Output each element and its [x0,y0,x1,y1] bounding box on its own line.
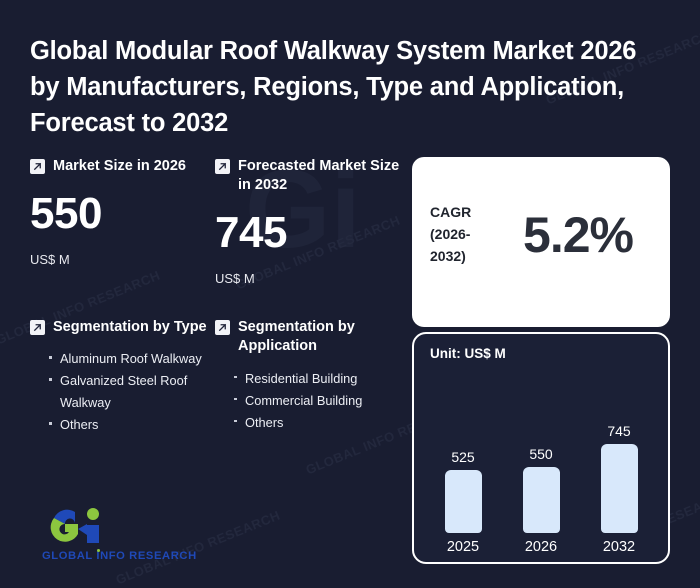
logo: GLOBAL INFO RESEARCH [42,505,197,562]
page-title: Global Modular Roof Walkway System Marke… [30,33,670,142]
bar-category-label: 2032 [603,540,635,555]
cagr-card: CAGR (2026-2032) 5.2% [412,157,670,327]
segments-row: Segmentation by Type Aluminum Roof Walkw… [30,318,400,436]
logo-text-before: GLOBAL [42,550,96,562]
stat-unit: US$ M [30,252,215,267]
bar [445,470,482,533]
bar-column: 525 2025 [432,372,494,554]
bar-chart-card: Unit: US$ M 525 2025 550 2026 745 2032 [412,332,670,564]
segment-header: Segmentation by Application [215,318,400,356]
logo-text-i: I [96,550,100,562]
segment-label: Segmentation by Type [53,318,207,337]
stat-market-size-2026: Market Size in 2026 550 US$ M [30,157,215,286]
chart-unit-label: Unit: US$ M [430,346,506,361]
stat-value: 745 [215,211,400,255]
segment-label: Segmentation by Application [238,318,400,356]
stat-unit: US$ M [215,271,400,286]
arrow-up-right-icon [215,159,230,174]
stat-label: Forecasted Market Size in 2032 [238,157,400,195]
bar [601,444,638,533]
stat-value: 550 [30,192,215,236]
bar-value-label: 550 [529,447,552,461]
segmentation-by-application: Segmentation by Application Residential … [215,318,400,436]
arrow-up-right-icon [30,159,45,174]
cagr-value: 5.2% [504,210,652,260]
gi-logo-icon [42,505,108,547]
list-item: Commercial Building [234,390,400,412]
bar-value-label: 745 [607,424,630,438]
logo-text-after: NFO RESEARCH [100,550,197,562]
segment-application-list: Residential Building Commercial Building… [215,368,400,434]
bar-column: 745 2032 [588,372,650,554]
left-column: Market Size in 2026 550 US$ M Forecasted… [30,157,400,436]
cagr-content: CAGR (2026-2032) 5.2% [412,157,670,327]
stat-label: Market Size in 2026 [53,157,186,176]
stat-header: Market Size in 2026 [30,157,215,176]
list-item: Aluminum Roof Walkway [49,348,215,370]
bar-category-label: 2025 [447,540,479,555]
list-item: Galvanized Steel Roof Walkway [49,370,215,414]
arrow-up-right-icon [30,320,45,335]
list-item: Others [234,412,400,434]
list-item: Others [49,414,215,436]
list-item: Residential Building [234,368,400,390]
logo-text: GLOBAL INFO RESEARCH [42,550,197,562]
bar [523,467,560,533]
segmentation-by-type: Segmentation by Type Aluminum Roof Walkw… [30,318,215,436]
stats-row: Market Size in 2026 550 US$ M Forecasted… [30,157,400,286]
cagr-label: CAGR (2026-2032) [430,202,504,267]
stat-header: Forecasted Market Size in 2032 [215,157,400,195]
stat-forecast-market-size-2032: Forecasted Market Size in 2032 745 US$ M [215,157,400,286]
bar-column: 550 2026 [510,372,572,554]
bar-value-label: 525 [451,450,474,464]
bar-category-label: 2026 [525,540,557,555]
arrow-up-right-icon [215,320,230,335]
chart-plot-area: 525 2025 550 2026 745 2032 [424,372,658,554]
segment-header: Segmentation by Type [30,318,215,337]
segment-type-list: Aluminum Roof Walkway Galvanized Steel R… [30,348,215,436]
